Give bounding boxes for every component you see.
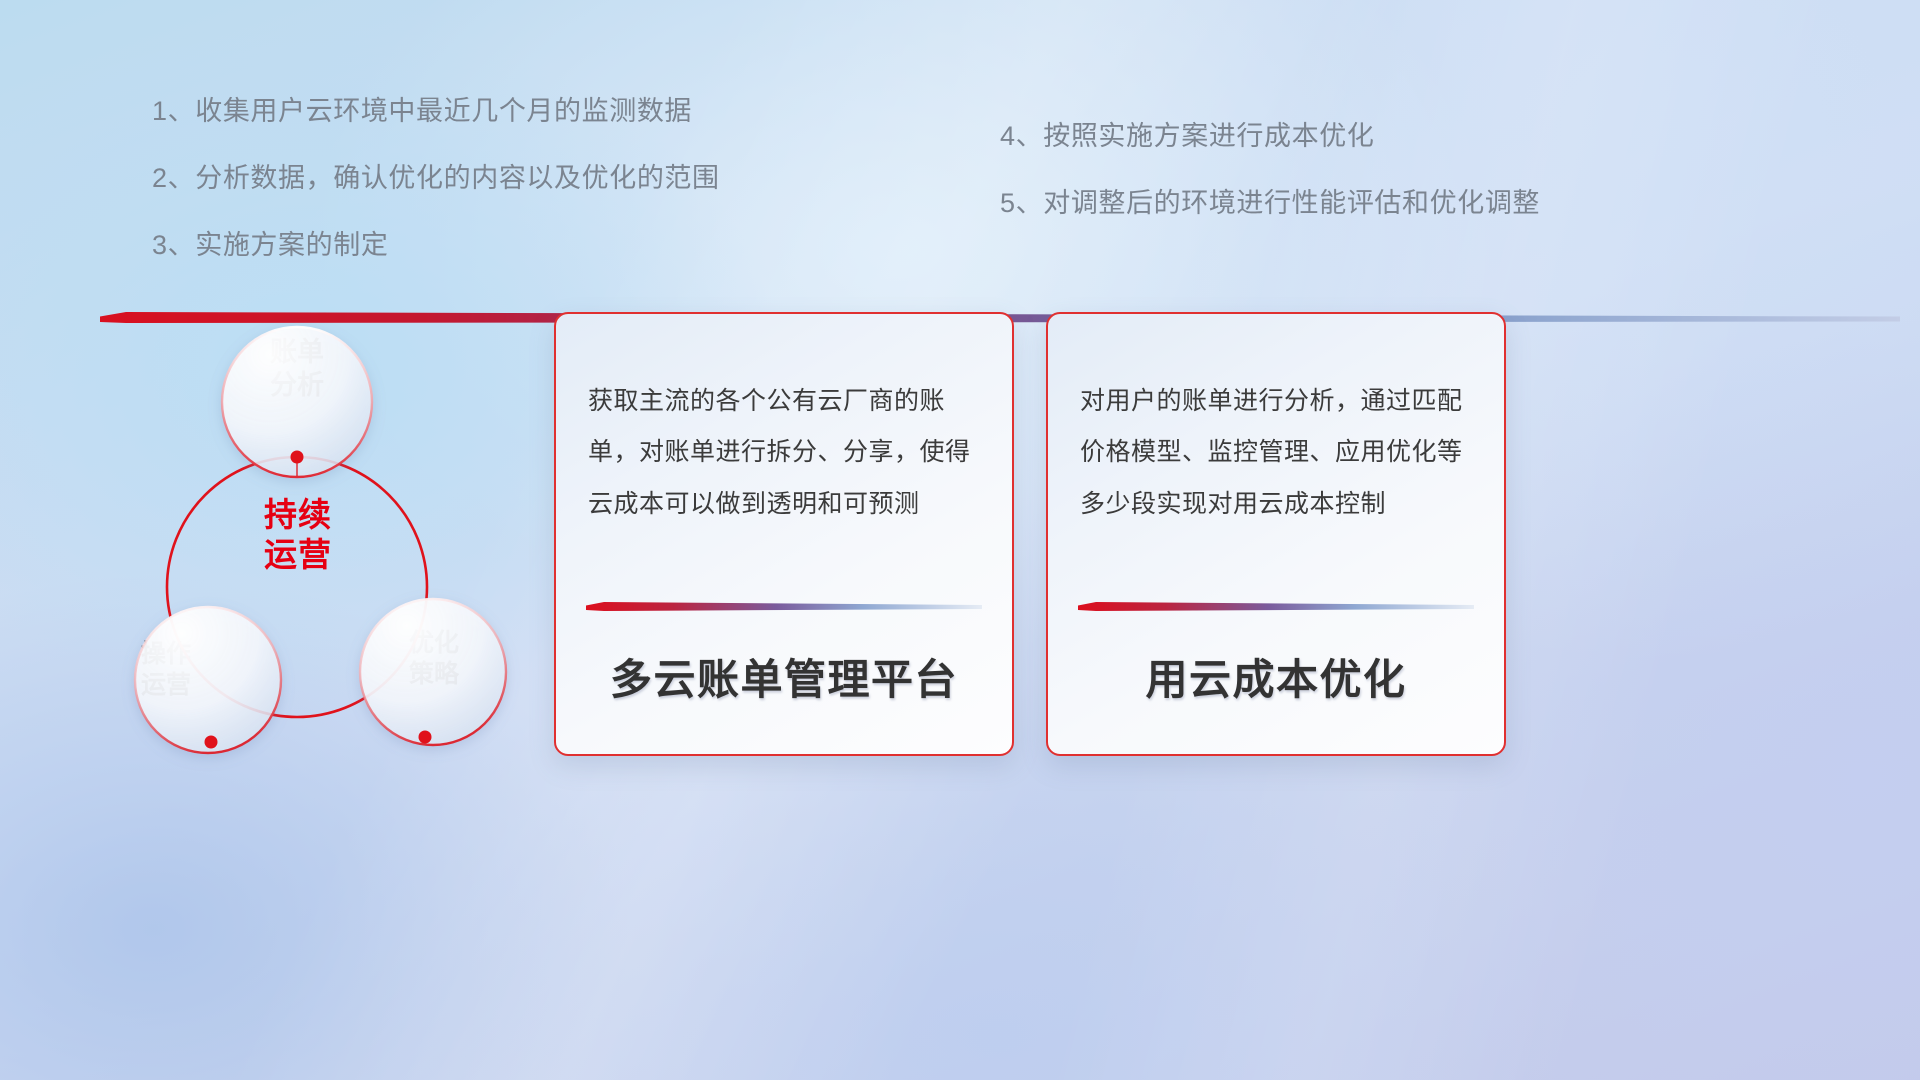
venn-circle-right: [360, 599, 506, 745]
venn-node-left: [205, 736, 218, 749]
card-body-text: 对用户的账单进行分析，通过匹配价格模型、监控管理、应用优化等多少段实现对用云成本…: [1080, 376, 1478, 530]
bullet-item: 1、收集用户云环境中最近几个月的监测数据: [152, 98, 720, 125]
bullet-item: 5、对调整后的环境进行性能评估和优化调整: [1000, 190, 1540, 217]
card-accent-rule: [1078, 602, 1474, 611]
card-cloud-cost-optimization[interactable]: 对用户的账单进行分析，通过匹配价格模型、监控管理、应用优化等多少段实现对用云成本…: [1046, 312, 1506, 756]
card-multi-cloud-billing[interactable]: 获取主流的各个公有云厂商的账单，对账单进行拆分、分享，使得云成本可以做到透明和可…: [554, 312, 1014, 756]
bullet-list-right: 4、按照实施方案进行成本优化 5、对调整后的环境进行性能评估和优化调整: [1000, 123, 1540, 217]
card-title: 用云成本优化: [1048, 646, 1504, 707]
bullet-item: 4、按照实施方案进行成本优化: [1000, 123, 1540, 150]
bullet-item: 2、分析数据，确认优化的内容以及优化的范围: [152, 165, 720, 192]
card-body-text: 获取主流的各个公有云厂商的账单，对账单进行拆分、分享，使得云成本可以做到透明和可…: [588, 376, 986, 530]
venn-circle-left: [135, 607, 281, 753]
card-accent-rule: [586, 602, 982, 611]
slide-canvas: 1、收集用户云环境中最近几个月的监测数据 2、分析数据，确认优化的内容以及优化的…: [0, 0, 1920, 1080]
bullet-list-left: 1、收集用户云环境中最近几个月的监测数据 2、分析数据，确认优化的内容以及优化的…: [152, 98, 720, 259]
card-title: 多云账单管理平台: [556, 646, 1012, 707]
venn-diagram: [80, 290, 550, 790]
venn-node-right: [419, 731, 432, 744]
bullet-item: 3、实施方案的制定: [152, 232, 720, 259]
